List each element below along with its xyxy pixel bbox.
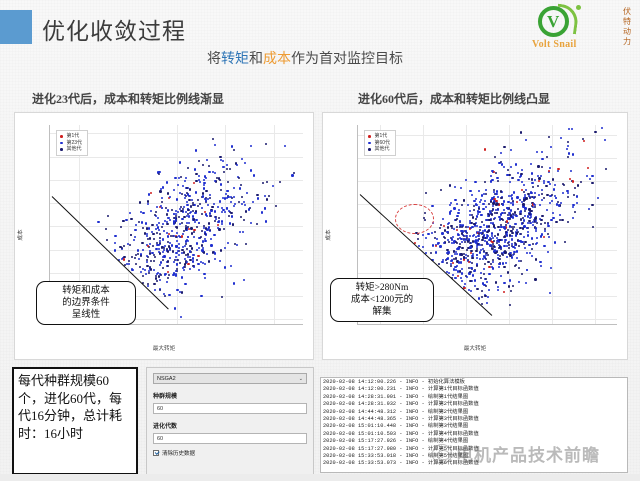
scatter-point — [498, 258, 500, 260]
scatter-point — [195, 173, 197, 175]
scatter-point — [580, 181, 582, 183]
scatter-point — [141, 242, 143, 244]
scatter-point — [188, 195, 190, 197]
scatter-point — [174, 177, 176, 179]
scatter-point — [472, 216, 474, 218]
scatter-point — [241, 196, 243, 198]
scatter-point — [97, 221, 99, 223]
scatter-point — [153, 238, 155, 240]
callout-line: 的边界条件 — [41, 297, 131, 309]
scatter-point — [221, 296, 223, 298]
scatter-point — [481, 194, 483, 196]
scatter-point — [196, 226, 198, 228]
scatter-point — [167, 209, 169, 211]
scatter-point — [463, 239, 465, 241]
scatter-point — [167, 277, 169, 279]
scatter-point — [504, 250, 506, 252]
scatter-point — [201, 244, 203, 246]
scatter-point — [490, 263, 492, 265]
scatter-point — [158, 229, 160, 231]
log-console[interactable]: 2020-02-08 14:12:00.226 - INFO - 初始化算法模板… — [320, 377, 628, 473]
scatter-point — [470, 267, 472, 269]
scatter-point — [520, 173, 522, 175]
scatter-point — [567, 145, 569, 147]
scatter-point — [236, 164, 238, 166]
scatter-point — [449, 204, 451, 206]
scatter-point — [442, 218, 444, 220]
scatter-point — [175, 245, 177, 247]
scatter-point — [530, 163, 532, 165]
scatter-point — [509, 234, 511, 236]
scatter-point — [156, 232, 158, 234]
subtitle-part-2: 作为首对监控目标 — [291, 52, 403, 67]
scatter-point — [228, 210, 230, 212]
scatter-point — [441, 232, 443, 234]
scatter-point — [572, 217, 574, 219]
scatter-point — [474, 279, 476, 281]
scatter-point — [507, 271, 509, 273]
scatter-point — [492, 261, 494, 263]
gridline-horizontal — [358, 158, 617, 159]
log-line: 2020-02-08 15:33:53.073 - INFO - 计算第6代目标… — [323, 460, 625, 467]
scatter-point — [479, 244, 481, 246]
optimizer-settings-panel: NSGA2 ⌄ 种群规模 60 进化代数 60 清除历史数据 — [146, 367, 314, 477]
scatter-point — [206, 253, 208, 255]
scatter-point — [517, 208, 519, 210]
scatter-point — [446, 262, 448, 264]
scatter-point — [214, 252, 216, 254]
scatter-point — [202, 164, 204, 166]
scatter-point — [217, 221, 219, 223]
scatter-point — [239, 187, 241, 189]
scatter-point — [512, 203, 514, 205]
callout-line: 呈线性 — [41, 309, 131, 321]
clear-history-checkbox-row[interactable]: 清除历史数据 — [153, 449, 307, 457]
scatter-point — [131, 256, 133, 258]
scatter-point — [505, 224, 507, 226]
scatter-point — [233, 282, 235, 284]
scatter-point — [221, 211, 223, 213]
scatter-point — [205, 177, 207, 179]
scatter-point — [218, 217, 220, 219]
scatter-point — [210, 210, 212, 212]
scatter-point — [240, 216, 242, 218]
scatter-point — [463, 258, 465, 260]
scatter-point — [199, 181, 201, 183]
legend-marker-icon — [368, 135, 371, 138]
scatter-point — [191, 232, 193, 234]
scatter-point — [543, 182, 545, 184]
scatter-point — [471, 262, 473, 264]
scatter-point — [524, 210, 526, 212]
log-line: 2020-02-08 15:01:10.448 - INFO - 绘制第3代结果… — [323, 423, 625, 430]
scatter-point — [505, 262, 507, 264]
scatter-point — [129, 212, 131, 214]
scatter-point — [142, 275, 144, 277]
scatter-point — [161, 226, 163, 228]
scatter-point — [191, 199, 193, 201]
scatter-point — [213, 234, 215, 236]
scatter-point — [266, 181, 268, 183]
scatter-point — [476, 215, 478, 217]
scatter-point — [441, 261, 443, 263]
scatter-point — [195, 180, 197, 182]
population-size-input[interactable]: 60 — [153, 403, 307, 414]
scatter-point — [513, 226, 515, 228]
scatter-point — [528, 213, 530, 215]
scatter-point — [481, 290, 483, 292]
scatter-point — [490, 175, 492, 177]
algorithm-select[interactable]: NSGA2 ⌄ — [153, 373, 307, 384]
scatter-point — [161, 197, 163, 199]
scatter-point — [469, 280, 471, 282]
legend-label: 其他代 — [67, 146, 82, 153]
scatter-point — [186, 204, 188, 206]
scatter-point — [506, 256, 508, 258]
scatter-point — [487, 296, 489, 298]
scatter-point — [203, 184, 205, 186]
scatter-point — [187, 167, 189, 169]
scatter-point — [166, 181, 168, 183]
scatter-point — [188, 222, 190, 224]
scatter-point — [478, 211, 480, 213]
scatter-point — [480, 272, 482, 274]
scatter-point — [147, 200, 149, 202]
scatter-point — [525, 197, 527, 199]
legend-marker-icon — [60, 148, 63, 151]
scatter-point — [541, 189, 543, 191]
scatter-point — [169, 257, 171, 259]
scatter-point — [189, 188, 191, 190]
scatter-point — [472, 240, 474, 242]
gridline-vertical — [274, 125, 275, 324]
scatter-point — [159, 289, 161, 291]
gridline-horizontal — [358, 135, 617, 136]
scatter-point — [527, 231, 529, 233]
scatter-point — [279, 181, 281, 183]
scatter-point — [601, 127, 603, 129]
scatter-point — [471, 194, 473, 196]
scatter-point — [536, 242, 538, 244]
log-line: 2020-02-08 14:12:00.231 - INFO - 计算第1代目标… — [323, 386, 625, 393]
scatter-point — [546, 194, 548, 196]
scatter-point — [567, 196, 569, 198]
scatter-point — [167, 250, 169, 252]
scatter-point — [200, 295, 202, 297]
scatter-point — [469, 190, 471, 192]
scatter-point — [183, 206, 185, 208]
scatter-point — [521, 169, 523, 171]
scatter-point — [502, 254, 504, 256]
scatter-point — [497, 233, 499, 235]
subtitle-part-1: 和 — [249, 52, 263, 67]
scatter-point — [192, 204, 194, 206]
scatter-point — [530, 191, 532, 193]
scatter-point — [500, 213, 502, 215]
scatter-point — [455, 266, 457, 268]
scatter-point — [467, 204, 469, 206]
scatter-point — [475, 236, 477, 238]
scatter-point — [484, 263, 486, 265]
scatter-point — [532, 224, 534, 226]
scatter-point — [510, 149, 512, 151]
scatter-point — [181, 218, 183, 220]
scatter-point — [501, 239, 503, 241]
scatter-point — [547, 225, 549, 227]
scatter-point — [182, 185, 184, 187]
scatter-point — [466, 276, 468, 278]
title-accent-square — [0, 10, 32, 44]
scatter-point — [106, 239, 108, 241]
scatter-point — [540, 265, 542, 267]
scatter-point — [185, 240, 187, 242]
scatter-point — [184, 283, 186, 285]
scatter-point — [159, 233, 161, 235]
scatter-point — [496, 212, 498, 214]
scatter-point — [567, 192, 569, 194]
scatter-point — [496, 177, 498, 179]
scatter-point — [203, 179, 205, 181]
scatter-point — [497, 286, 499, 288]
scatter-point — [153, 283, 155, 285]
page-title: 优化收敛过程 — [42, 12, 186, 46]
scatter-point — [201, 230, 203, 232]
callout-left-linear-boundary: 转矩和成本的边界条件呈线性 — [36, 281, 136, 325]
scatter-point — [291, 174, 293, 176]
scatter-point — [210, 244, 212, 246]
scatter-point — [162, 239, 164, 241]
scatter-point — [503, 282, 505, 284]
legend-item: 其他代 — [368, 146, 390, 153]
scatter-point — [561, 219, 563, 221]
scatter-point — [558, 204, 560, 206]
scatter-point — [457, 238, 459, 240]
subtitle-part-0: 将 — [207, 52, 221, 67]
scatter-point — [250, 169, 252, 171]
scatter-point — [453, 228, 455, 230]
scatter-point — [491, 247, 493, 249]
scatter-point — [138, 258, 140, 260]
scatter-point — [460, 187, 462, 189]
scatter-point — [574, 187, 576, 189]
scatter-point — [239, 231, 241, 233]
checkbox-checked-icon[interactable] — [153, 450, 159, 456]
scatter-point — [499, 218, 501, 220]
scatter-point — [523, 191, 525, 193]
scatter-point — [572, 153, 574, 155]
scatter-point — [504, 212, 506, 214]
scatter-point — [180, 176, 182, 178]
scatter-point — [469, 210, 471, 212]
scatter-point — [541, 193, 543, 195]
scatter-point — [541, 166, 543, 168]
scatter-point — [583, 140, 585, 142]
scatter-point — [515, 163, 517, 165]
scatter-point — [597, 197, 599, 199]
scatter-point — [137, 249, 139, 251]
scatter-point — [475, 239, 477, 241]
scatter-point — [452, 262, 454, 264]
scatter-point — [586, 175, 588, 177]
scatter-point — [205, 200, 207, 202]
scatter-point — [181, 193, 183, 195]
scatter-point — [185, 227, 187, 229]
scatter-point — [153, 254, 155, 256]
scatter-point — [208, 171, 210, 173]
legend-marker-icon — [368, 148, 371, 151]
scatter-point — [503, 209, 505, 211]
scatter-point — [536, 151, 538, 153]
scatter-point — [548, 136, 550, 138]
scatter-point — [591, 182, 593, 184]
scatter-point — [134, 257, 136, 259]
scatter-point — [231, 215, 233, 217]
scatter-point — [250, 145, 252, 147]
scatter-point — [446, 231, 448, 233]
scatter-point — [223, 171, 225, 173]
scatter-point — [425, 237, 427, 239]
scatter-point — [159, 279, 161, 281]
scatter-point — [496, 237, 498, 239]
scatter-point — [512, 177, 514, 179]
generations-label: 进化代数 — [153, 421, 307, 430]
scatter-point — [509, 279, 511, 281]
highlight-region-ellipse — [395, 204, 434, 233]
scatter-point — [151, 224, 153, 226]
slide-bottom-strip — [0, 474, 640, 481]
scatter-point — [519, 176, 521, 178]
scatter-point — [176, 226, 178, 228]
scatter-point — [479, 258, 481, 260]
scatter-point — [253, 174, 255, 176]
scatter-point — [212, 138, 214, 140]
scatter-point — [197, 255, 199, 257]
scatter-point — [190, 227, 192, 229]
scatter-point — [120, 226, 122, 228]
right-chart-heading: 进化60代后，成本和转矩比例线凸显 — [358, 90, 550, 107]
scatter-point — [179, 262, 181, 264]
scatter-point — [204, 277, 206, 279]
scatter-point — [244, 204, 246, 206]
scatter-point — [475, 250, 477, 252]
scatter-point — [557, 170, 559, 172]
scatter-point — [114, 235, 116, 237]
scatter-point — [492, 208, 494, 210]
scatter-point — [128, 263, 130, 265]
scatter-point — [226, 190, 228, 192]
scatter-point — [242, 231, 244, 233]
scatter-point — [178, 177, 180, 179]
scatter-point — [187, 236, 189, 238]
scatter-point — [206, 159, 208, 161]
scatter-point — [484, 148, 486, 150]
scatter-point — [168, 274, 170, 276]
scatter-point — [505, 231, 507, 233]
scatter-point — [214, 144, 216, 146]
scatter-point — [228, 215, 230, 217]
scatter-point — [219, 260, 221, 262]
scatter-point — [175, 252, 177, 254]
scatter-point — [107, 215, 109, 217]
scatter-point — [166, 281, 168, 283]
scatter-point — [554, 241, 556, 243]
scatter-point — [169, 219, 171, 221]
callout-line: 转矩>280Nm — [335, 282, 429, 294]
scatter-point — [432, 244, 434, 246]
scatter-point — [257, 197, 259, 199]
scatter-point — [460, 253, 462, 255]
scatter-point — [540, 175, 542, 177]
scatter-point — [533, 203, 535, 205]
scatter-point — [189, 256, 191, 258]
scatter-point — [497, 196, 499, 198]
scatter-point — [487, 254, 489, 256]
scatter-point — [149, 266, 151, 268]
scatter-point — [559, 214, 561, 216]
scatter-point — [520, 131, 522, 133]
scatter-point — [549, 292, 551, 294]
scatter-point — [470, 290, 472, 292]
scatter-point — [159, 240, 161, 242]
scatter-point — [522, 205, 524, 207]
scatter-point — [184, 197, 186, 199]
scatter-point — [159, 237, 161, 239]
scatter-point — [204, 233, 206, 235]
scatter-point — [227, 242, 229, 244]
scatter-point — [150, 210, 152, 212]
scatter-point — [166, 214, 168, 216]
scatter-point — [159, 264, 161, 266]
scatter-point — [201, 207, 203, 209]
scatter-point — [495, 193, 497, 195]
scatter-point — [521, 181, 523, 183]
scatter-point — [459, 220, 461, 222]
scatter-point — [508, 244, 510, 246]
scatter-point — [474, 285, 476, 287]
scatter-point — [187, 263, 189, 265]
scatter-point — [461, 280, 463, 282]
scatter-point — [461, 247, 463, 249]
scatter-point — [439, 245, 441, 247]
scatter-point — [450, 265, 452, 267]
log-line: 2020-02-08 14:44:48.312 - INFO - 绘制第2代结果… — [323, 409, 625, 416]
log-line: 2020-02-08 15:17:27.926 - INFO - 绘制第4代结果… — [323, 438, 625, 445]
scatter-point — [133, 239, 135, 241]
scatter-point — [483, 268, 485, 270]
scatter-point — [147, 285, 149, 287]
scatter-point — [491, 210, 493, 212]
scatter-point — [537, 165, 539, 167]
scatter-point — [220, 183, 222, 185]
scatter-point — [244, 162, 246, 164]
scatter-point — [230, 212, 232, 214]
scatter-point — [489, 210, 491, 212]
scatter-point — [204, 240, 206, 242]
scatter-point — [155, 277, 157, 279]
scatter-point — [209, 194, 211, 196]
scatter-point — [501, 197, 503, 199]
scatter-point — [456, 229, 458, 231]
scatter-point — [454, 199, 456, 201]
scatter-point — [157, 226, 159, 228]
generations-input[interactable]: 60 — [153, 433, 307, 444]
scatter-point — [549, 167, 551, 169]
scatter-point — [171, 244, 173, 246]
scatter-point — [447, 226, 449, 228]
scatter-point — [531, 179, 533, 181]
scatter-point — [458, 209, 460, 211]
scatter-point — [473, 270, 475, 272]
